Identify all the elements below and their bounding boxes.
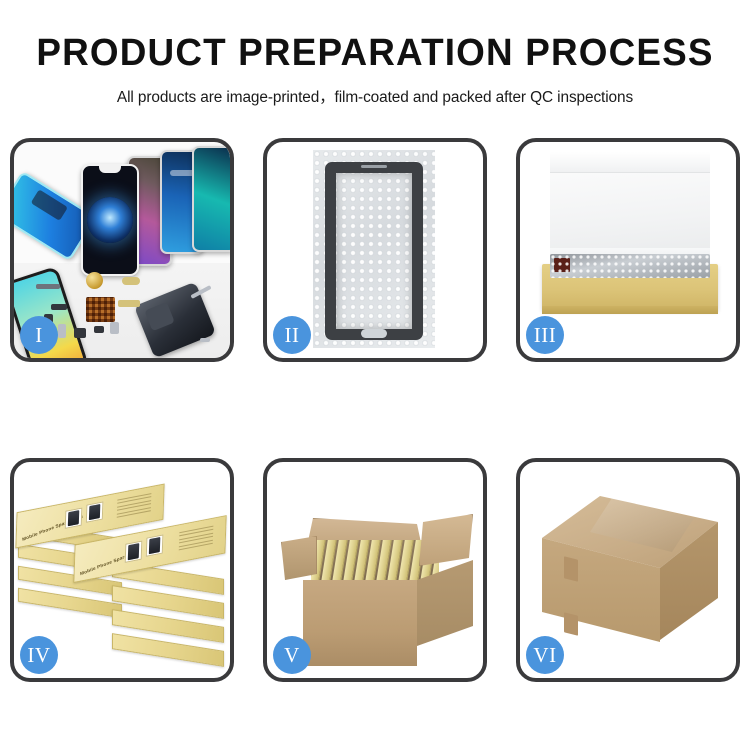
- step-badge-5: V: [273, 636, 311, 674]
- kraft-box-base-icon: [542, 264, 718, 310]
- carton-tab-upper-icon: [564, 556, 578, 581]
- product-preparation-process-page: PRODUCT PREPARATION PROCESS All products…: [0, 0, 750, 750]
- box-screen-photo-icon: [86, 501, 104, 522]
- part-speaker-icon: [94, 326, 104, 333]
- ic-chip-grid-icon: [86, 297, 115, 322]
- part-module-icon: [110, 322, 119, 334]
- part-strip-icon: [36, 284, 60, 289]
- carton-front-face-icon: [303, 580, 417, 666]
- box-spec-lines: [117, 493, 152, 520]
- label-sticker-icon: [554, 258, 570, 272]
- page-title: PRODUCT PREPARATION PROCESS: [11, 34, 739, 74]
- box-screen-photo-icon: [65, 507, 83, 528]
- process-step-panel-4: Mobile Phone Spare Parts Mobile Phone Sp…: [10, 458, 234, 682]
- carton-left-flap-icon: [281, 536, 317, 580]
- phone-green-icon: [192, 146, 230, 252]
- box-screen-photo-icon: [125, 540, 143, 562]
- earpiece-slot-icon: [361, 165, 387, 168]
- process-step-panel-6: VI: [516, 458, 740, 682]
- page-subtitle: All products are image-printed，film-coat…: [0, 85, 750, 107]
- box-screen-photo-icon: [146, 534, 164, 556]
- step-badge-3: III: [526, 316, 564, 354]
- carton-right-flap-icon: [419, 514, 473, 566]
- process-steps-grid: I II: [10, 138, 740, 682]
- vibration-motor-icon: [86, 272, 103, 289]
- process-step-panel-3: III: [516, 138, 740, 362]
- step-badge-1: I: [20, 316, 58, 354]
- part-flex-ribbon-icon: [118, 300, 140, 307]
- process-step-panel-2: II: [263, 138, 487, 362]
- step-badge-4: IV: [20, 636, 58, 674]
- box-spec-lines: [179, 526, 214, 553]
- process-step-panel-5: V: [263, 458, 487, 682]
- kraft-box-front-flap-icon: [542, 306, 718, 314]
- process-step-panel-1: I: [10, 138, 234, 362]
- phone-screen-frame-icon: [325, 162, 423, 340]
- carton-tab-lower-icon: [564, 612, 578, 635]
- phone-black-jellyfish-icon: [81, 164, 139, 276]
- part-screw-icon: [200, 338, 210, 342]
- wrapped-screen-in-box-icon: [550, 254, 710, 278]
- part-flex-cable-icon: [122, 277, 140, 285]
- step-badge-6: VI: [526, 636, 564, 674]
- part-sim-tray-icon: [58, 324, 66, 338]
- bubble-wrap-sheet-icon: [313, 150, 435, 348]
- page-header: PRODUCT PREPARATION PROCESS All products…: [0, 34, 750, 107]
- part-connector-icon: [51, 304, 67, 310]
- step-badge-2: II: [273, 316, 311, 354]
- part-camera-icon: [74, 328, 86, 338]
